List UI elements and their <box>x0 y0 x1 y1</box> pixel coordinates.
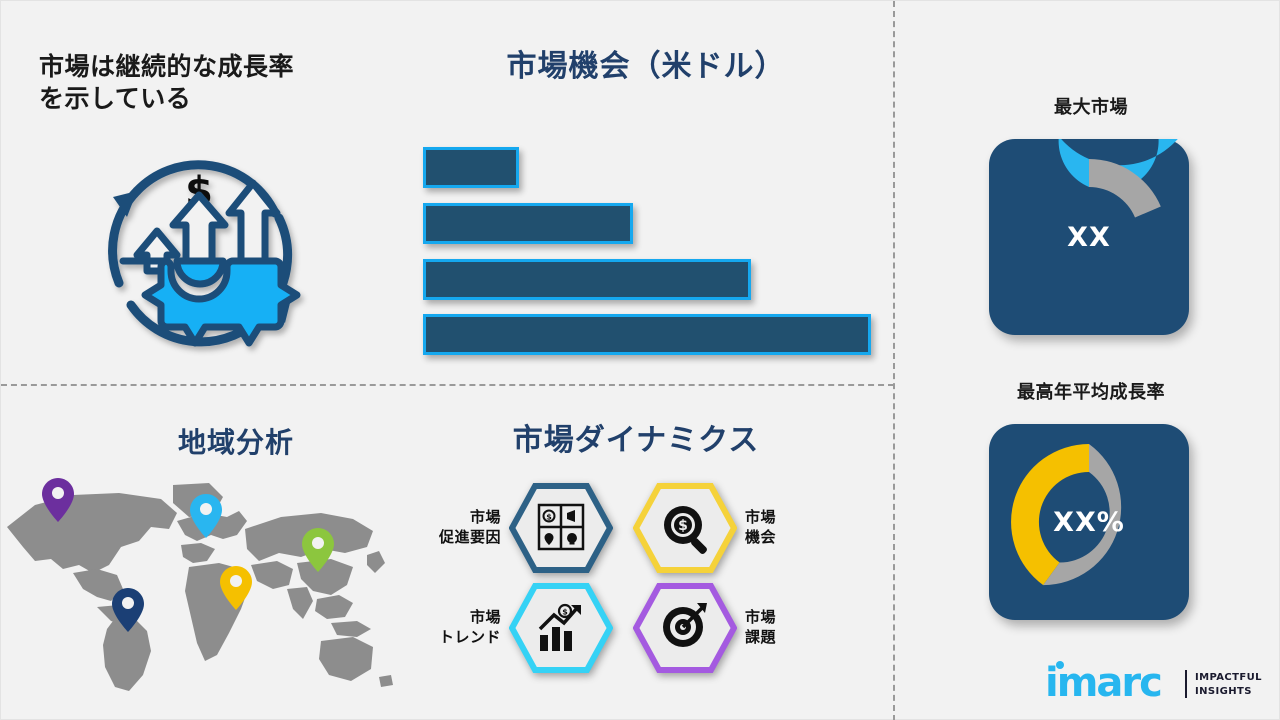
logo-wordmark: imarc <box>1045 663 1161 703</box>
hexagon-opportunities[interactable]: $ <box>633 483 737 573</box>
bar-4 <box>423 314 871 355</box>
largest-market-card: XX <box>989 139 1189 335</box>
slide-canvas: 市場は継続的な成長率 を示している $ <box>0 0 1280 720</box>
hexagon-trends[interactable]: $ <box>509 583 613 673</box>
dynamics-item-challenges[interactable]: 市場 課題 <box>633 583 841 673</box>
bar-3 <box>423 259 751 300</box>
horizontal-divider <box>1 384 894 386</box>
bar-1 <box>423 147 519 188</box>
svg-text:$: $ <box>546 513 552 522</box>
map-pin-latin-america <box>111 587 145 637</box>
largest-market-value: XX <box>989 139 1189 335</box>
world-map <box>1 469 401 695</box>
market-dynamics-heading: 市場ダイナミクス <box>451 423 821 459</box>
svg-text:$: $ <box>562 608 568 617</box>
imarc-logo: imarc IMPACTFUL INSIGHTS <box>1045 661 1255 707</box>
opportunity-heading: 市場機会（米ドル） <box>421 49 871 85</box>
highest-cagr-heading: 最高年平均成長率 <box>956 381 1226 404</box>
dynamics-item-drivers[interactable]: 市場 促進要因 $ <box>405 483 613 573</box>
growth-cycle-icon: $ <box>79 133 319 368</box>
largest-market-heading: 最大市場 <box>961 96 1221 119</box>
dynamics-item-opportunities[interactable]: $ 市場 機会 <box>633 483 841 573</box>
dynamics-item-trends[interactable]: 市場 トレンド $ <box>405 583 613 673</box>
vertical-divider <box>893 1 895 720</box>
logo-divider <box>1185 670 1187 698</box>
opportunity-bar-chart <box>423 147 883 353</box>
bar-2 <box>423 203 633 244</box>
market-dynamics-grid: 市場 促進要因 $ <box>405 483 845 673</box>
dynamics-label-challenges: 市場 課題 <box>745 608 841 648</box>
map-pin-europe <box>189 493 223 543</box>
highest-cagr-value: XX% <box>989 424 1189 620</box>
growth-heading: 市場は継続的な成長率 を示している <box>39 51 384 115</box>
hexagon-drivers[interactable]: $ <box>509 483 613 573</box>
map-pin-asia-pacific <box>301 527 335 577</box>
logo-tagline: IMPACTFUL INSIGHTS <box>1195 671 1262 698</box>
dynamics-label-opportunities: 市場 機会 <box>745 508 841 548</box>
dynamics-label-drivers: 市場 促進要因 <box>405 508 501 548</box>
svg-text:$: $ <box>678 518 688 534</box>
map-pin-middle-east-africa <box>219 565 253 615</box>
regional-analysis-heading: 地域分析 <box>121 426 351 460</box>
map-pin-north-america <box>41 477 75 527</box>
hexagon-challenges[interactable] <box>633 583 737 673</box>
dynamics-label-trends: 市場 トレンド <box>405 608 501 648</box>
highest-cagr-card: XX% <box>989 424 1189 620</box>
